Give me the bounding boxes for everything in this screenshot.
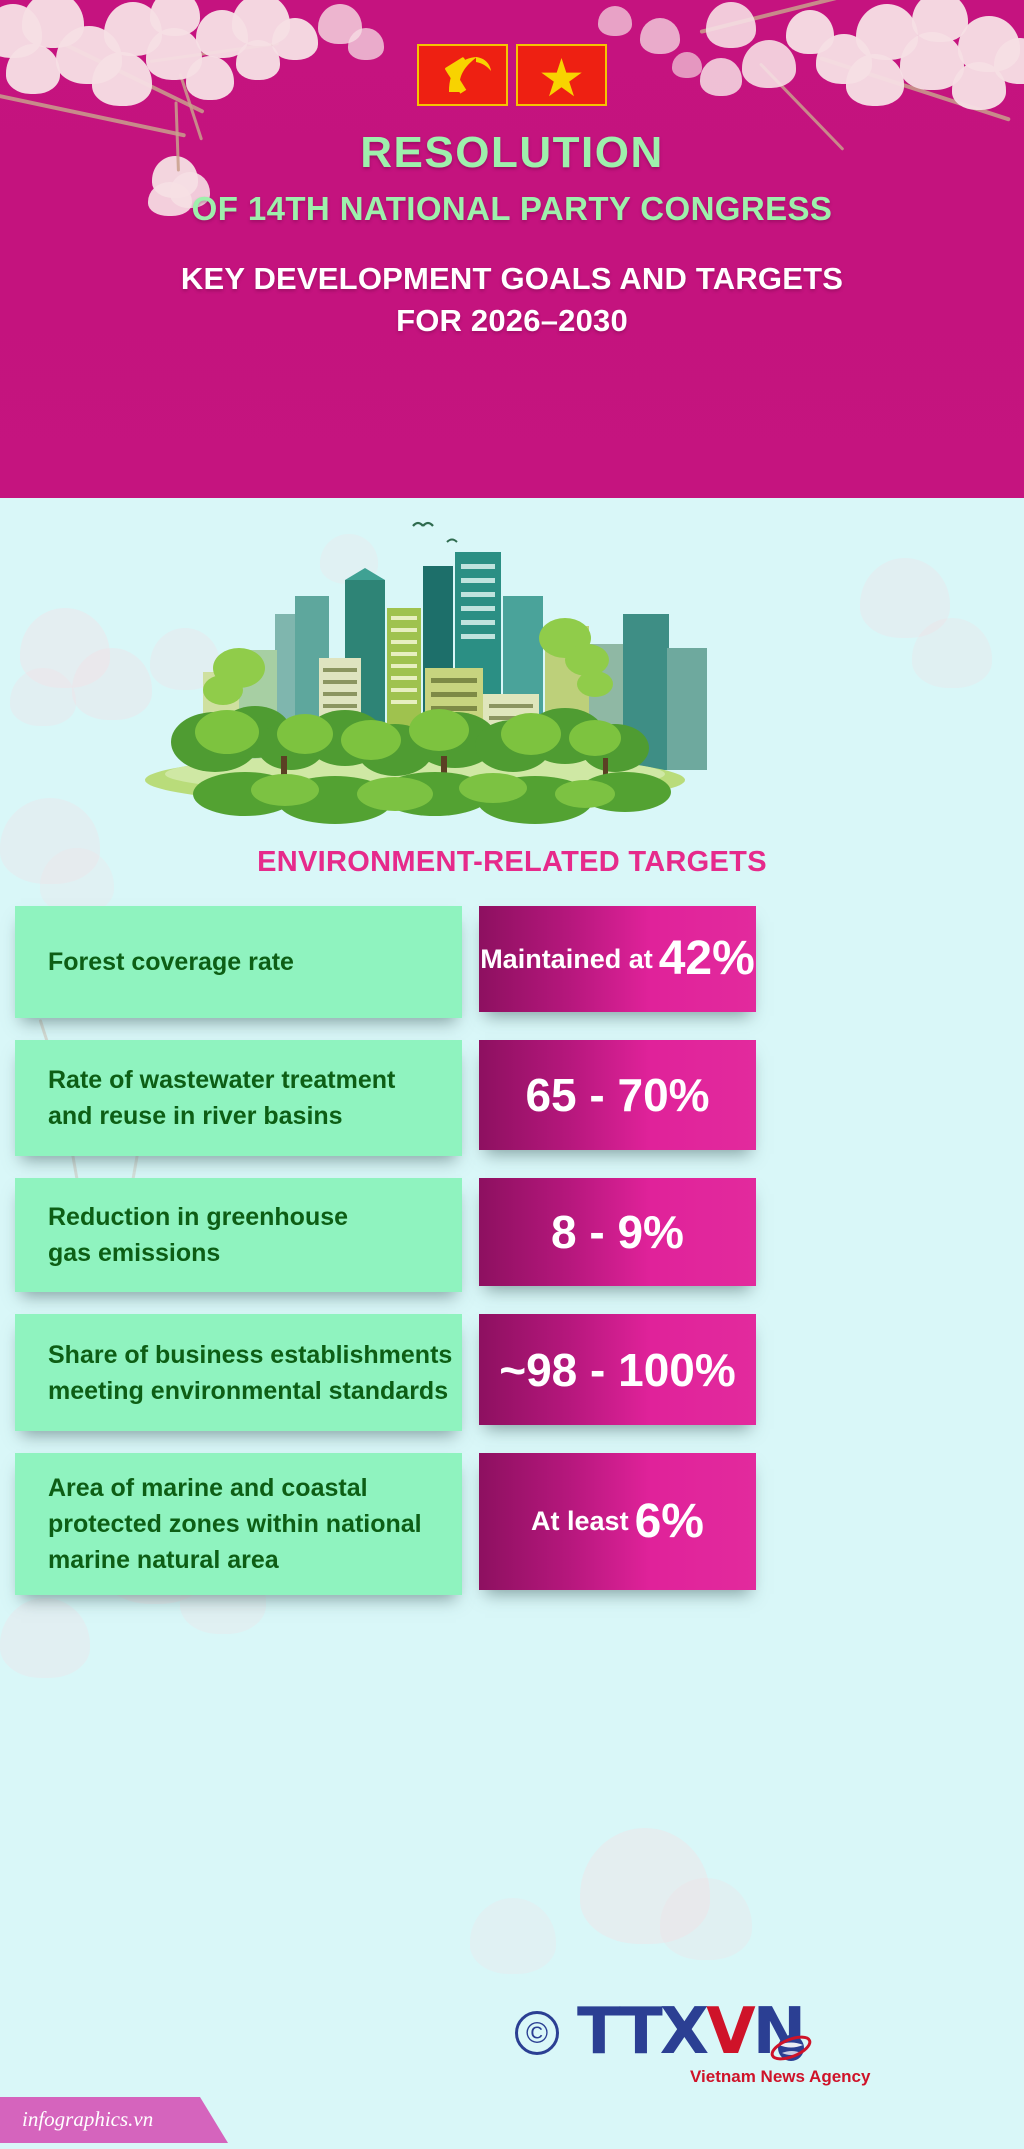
page-title-key: KEY DEVELOPMENT GOALS AND TARGETS FOR 20… [0, 258, 1024, 342]
target-label-line1: Share of business establishments [48, 1337, 452, 1373]
agency-name: Vietnam News Agency [690, 2067, 870, 2087]
target-value-number: 6% [635, 1498, 704, 1546]
copyright-icon: © [515, 2011, 559, 2055]
page-title-sub: OF 14TH NATIONAL PARTY CONGRESS [0, 190, 1024, 228]
target-label: Area of marine and coastal protected zon… [15, 1453, 462, 1595]
target-label-line2: meeting environmental standards [48, 1373, 452, 1409]
target-value: ~98 - 100% [479, 1314, 756, 1425]
target-value: 65 - 70% [479, 1040, 756, 1150]
target-value: Maintained at 42% [479, 906, 756, 1012]
source-banner-label: infographics.vn [22, 2107, 153, 2132]
target-value-number: ~98 - 100% [499, 1347, 736, 1393]
globe-icon [770, 2027, 812, 2069]
green-city-illustration [95, 518, 735, 828]
target-label: Forest coverage rate [15, 906, 462, 1018]
target-label-line2: protected zones within national [48, 1506, 422, 1542]
table-row: Rate of wastewater treatment and reuse i… [0, 1040, 1024, 1156]
page-title-main: RESOLUTION [0, 128, 1024, 178]
target-value-number: 8 - 9% [551, 1209, 684, 1255]
section-title: ENVIRONMENT-RELATED TARGETS [0, 846, 1024, 879]
page-title-key-line1: KEY DEVELOPMENT GOALS AND TARGETS [0, 258, 1024, 300]
target-value: At least 6% [479, 1453, 756, 1590]
target-label-line1: Reduction in greenhouse [48, 1199, 348, 1235]
target-label-line2: and reuse in river basins [48, 1098, 395, 1134]
target-label-line2: gas emissions [48, 1235, 348, 1271]
targets-table: Forest coverage rate Maintained at 42% R… [0, 906, 1024, 1617]
target-label: Share of business establishments meeting… [15, 1314, 462, 1431]
infographic-page: RESOLUTION OF 14TH NATIONAL PARTY CONGRE… [0, 0, 1024, 2149]
target-label: Rate of wastewater treatment and reuse i… [15, 1040, 462, 1156]
target-value: 8 - 9% [479, 1178, 756, 1286]
table-row: Share of business establishments meeting… [0, 1314, 1024, 1431]
table-row: Reduction in greenhouse gas emissions 8 … [0, 1178, 1024, 1292]
footer: infographics.vn © TTXVN Vietnam News Age… [0, 2089, 1024, 2149]
target-value-number: 42% [659, 935, 755, 983]
table-row: Area of marine and coastal protected zon… [0, 1453, 1024, 1595]
vietnam-national-flag-icon [516, 44, 607, 106]
target-label-line1: Rate of wastewater treatment [48, 1062, 395, 1098]
target-label-line1: Forest coverage rate [48, 944, 294, 980]
bottom-strip [0, 2143, 1024, 2149]
page-title-key-line2: FOR 2026–2030 [0, 300, 1024, 342]
table-row: Forest coverage rate Maintained at 42% [0, 906, 1024, 1018]
ttxvn-wordmark-part2: V [706, 1995, 753, 2069]
target-value-prefix: At least [531, 1506, 629, 1537]
target-value-number: 65 - 70% [525, 1072, 709, 1118]
ttxvn-logo: © TTXVN Vietnam News Agency [515, 1989, 985, 2099]
source-banner: infographics.vn [0, 2097, 228, 2143]
target-value-prefix: Maintained at [480, 944, 653, 975]
target-label: Reduction in greenhouse gas emissions [15, 1178, 462, 1292]
flags-row [0, 44, 1024, 106]
target-label-line3: marine natural area [48, 1542, 422, 1578]
content-area: ENVIRONMENT-RELATED TARGETS Forest cover… [0, 498, 1024, 2089]
header-banner: RESOLUTION OF 14TH NATIONAL PARTY CONGRE… [0, 0, 1024, 498]
communist-party-of-vietnam-flag-icon [417, 44, 508, 106]
ttxvn-wordmark-part1: TTX [577, 1995, 706, 2069]
target-label-line1: Area of marine and coastal [48, 1470, 422, 1506]
